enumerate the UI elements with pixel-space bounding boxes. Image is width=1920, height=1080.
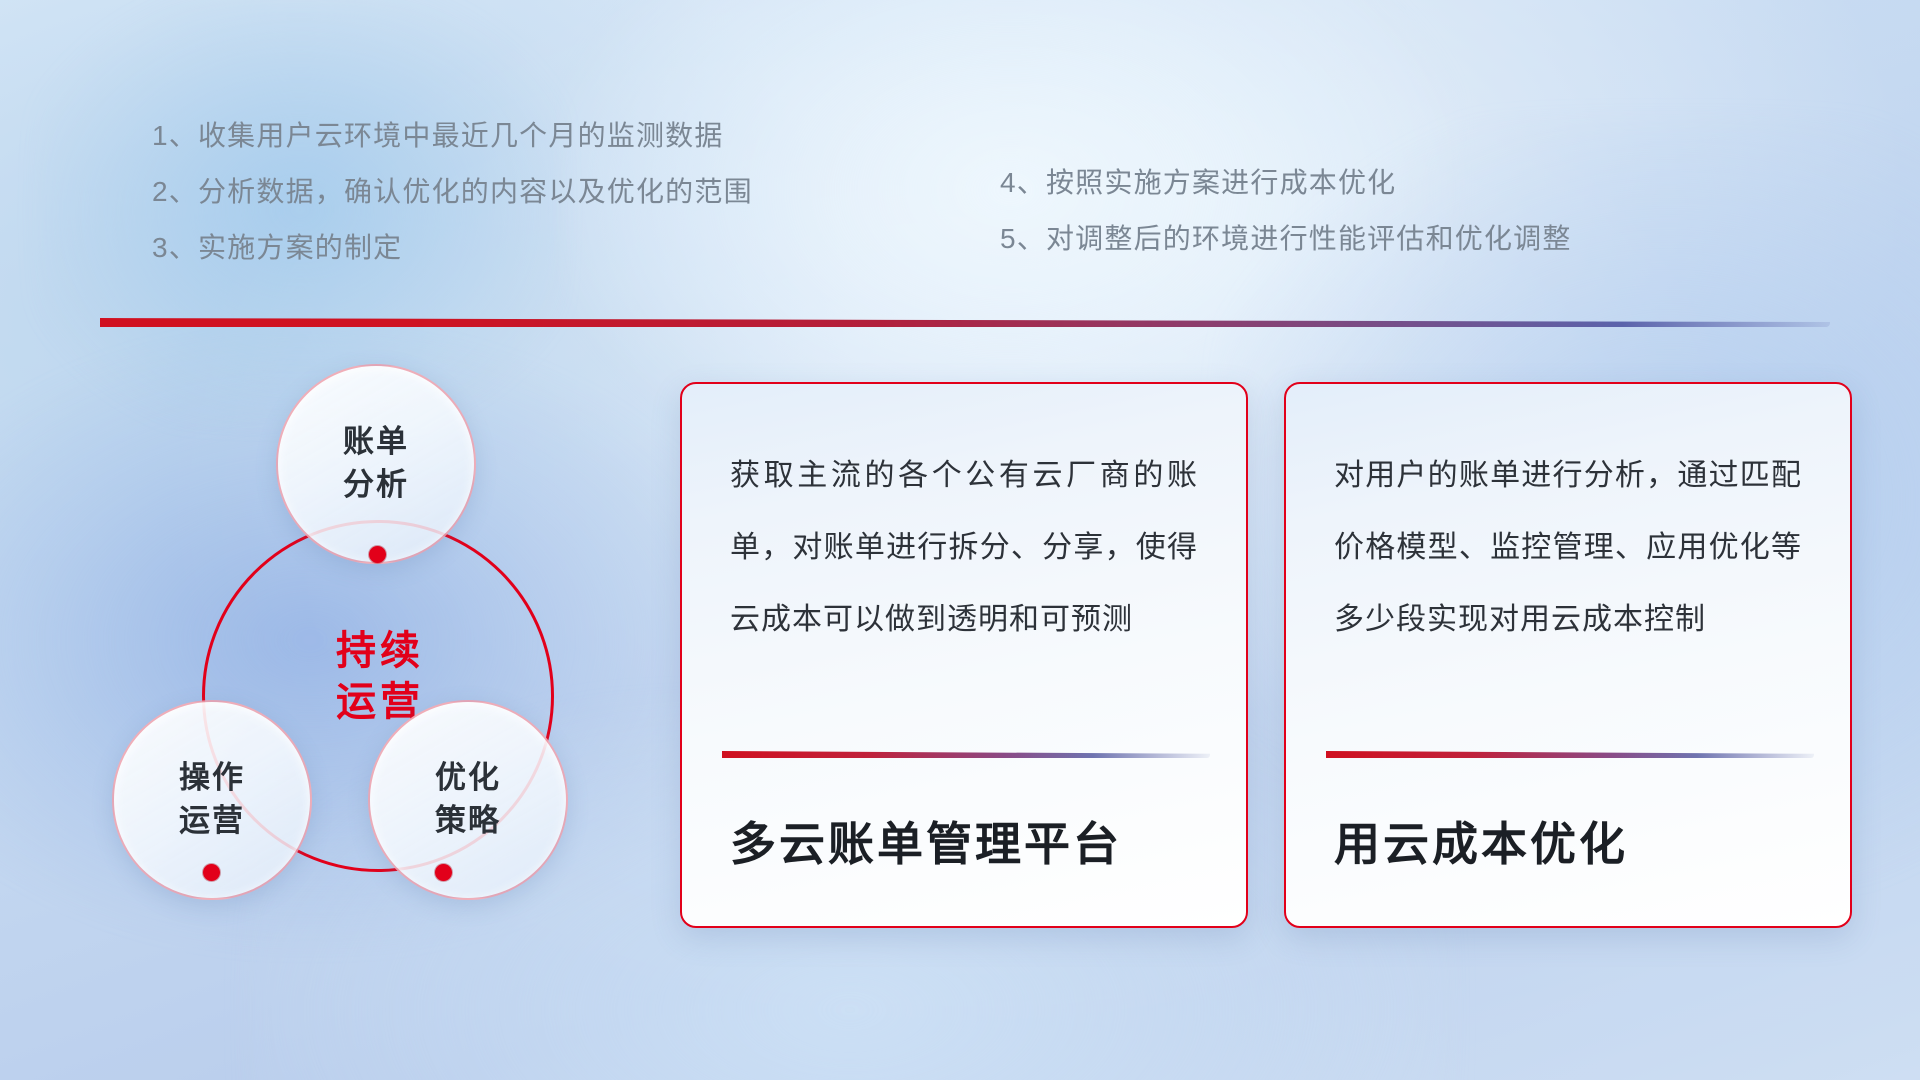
step-item-1: 1、收集用户云环境中最近几个月的监测数据 bbox=[152, 108, 753, 164]
steps-column-left: 1、收集用户云环境中最近几个月的监测数据 2、分析数据，确认优化的内容以及优化的… bbox=[152, 108, 753, 276]
card-multi-cloud-billing-platform[interactable]: 获取主流的各个公有云厂商的账单，对账单进行拆分、分享，使得云成本可以做到透明和可… bbox=[680, 382, 1248, 928]
bubble-label-line1: 操作 bbox=[179, 757, 245, 800]
diagram-center-label-line1: 持续 bbox=[282, 626, 478, 677]
diagram-node-dot-left bbox=[203, 864, 220, 881]
card-body-text: 对用户的账单进行分析，通过匹配价格模型、监控管理、应用优化等多少段实现对用云成本… bbox=[1334, 440, 1802, 656]
bubble-label-line1: 优化 bbox=[435, 757, 501, 800]
card-title: 多云账单管理平台 bbox=[730, 808, 1122, 874]
card-accent-rule bbox=[722, 751, 1210, 758]
slide-root: 1、收集用户云环境中最近几个月的监测数据 2、分析数据，确认优化的内容以及优化的… bbox=[0, 0, 1920, 1080]
bubble-label-line1: 账单 bbox=[343, 421, 409, 464]
step-item-3: 3、实施方案的制定 bbox=[152, 220, 753, 276]
continuous-operation-diagram: 持续 运营 账单 分析 操作 运营 优化 策略 bbox=[96, 352, 616, 952]
card-body-text: 获取主流的各个公有云厂商的账单，对账单进行拆分、分享，使得云成本可以做到透明和可… bbox=[730, 440, 1198, 656]
bubble-label-line2: 运营 bbox=[179, 800, 245, 843]
diagram-bubble-bill-analysis[interactable]: 账单 分析 bbox=[276, 364, 476, 564]
diagram-node-dot-right bbox=[435, 864, 452, 881]
bubble-label-line2: 分析 bbox=[343, 464, 409, 507]
steps-column-right: 4、按照实施方案进行成本优化 5、对调整后的环境进行性能评估和优化调整 bbox=[1000, 155, 1572, 267]
card-accent-rule bbox=[1326, 751, 1814, 758]
bubble-label-line2: 策略 bbox=[435, 800, 501, 843]
diagram-node-dot-top bbox=[369, 546, 386, 563]
diagram-bubble-optimization-strategy[interactable]: 优化 策略 bbox=[368, 700, 568, 900]
step-item-5: 5、对调整后的环境进行性能评估和优化调整 bbox=[1000, 211, 1572, 267]
step-item-2: 2、分析数据，确认优化的内容以及优化的范围 bbox=[152, 164, 753, 220]
card-cloud-cost-optimization[interactable]: 对用户的账单进行分析，通过匹配价格模型、监控管理、应用优化等多少段实现对用云成本… bbox=[1284, 382, 1852, 928]
card-title: 用云成本优化 bbox=[1334, 808, 1628, 874]
step-item-4: 4、按照实施方案进行成本优化 bbox=[1000, 155, 1572, 211]
